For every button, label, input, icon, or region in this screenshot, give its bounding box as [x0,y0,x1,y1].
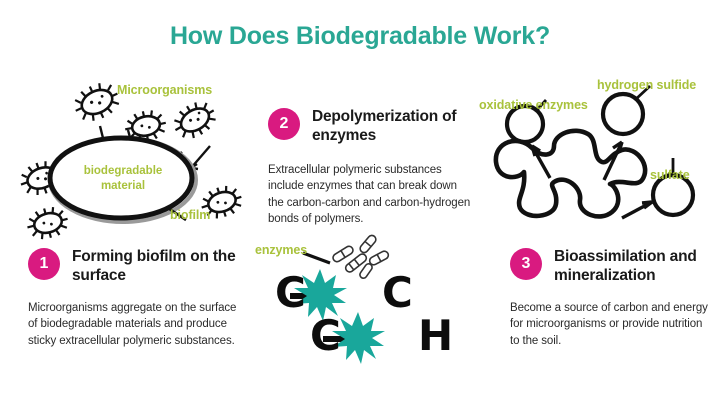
atom-carbon-2: C [382,272,413,314]
step-1-badge: 1 [28,248,60,280]
biofilm-label: biofilm [170,208,210,222]
enzyme-molecules [332,234,390,280]
sulfate-label: sulfate [650,168,690,182]
step-3-title: Bioassimilation and mineralization [554,248,710,286]
hydrogen-sulfide-circle [603,94,643,134]
microorganism-icon [24,203,71,243]
step-2-header: 2 Depolymerization of enzymes [268,108,474,152]
oxidative-enzymes-label: oxidative enzymes [479,98,588,112]
step-2-badge: 2 [268,108,300,140]
step-2-body: Extracellular polymeric substances inclu… [268,162,474,227]
microorganism-icon [168,96,221,145]
step-1-block: 1 Forming biofilm on the surface Microor… [28,248,240,349]
atom-carbon-1: C [275,272,306,314]
enzymes-label: enzymes [255,243,307,257]
infographic-canvas: How Does Biodegradable Work? [0,0,720,404]
step-3-body: Become a source of carbon and energy for… [510,300,710,349]
step-3-block: 3 Bioassimilation and mineralization Bec… [510,248,710,349]
atom-hydrogen: H [418,315,453,357]
microorganism-icon [69,77,124,127]
material-label-line2: material [101,180,145,192]
step-3-header: 3 Bioassimilation and mineralization [510,248,710,292]
atom-carbon-3: C [310,315,341,357]
step-3-badge: 3 [510,248,542,280]
step-1-body: Microorganisms aggregate on the surface … [28,300,240,349]
material-label-line1: biodegradable [84,165,163,177]
step-1-title: Forming biofilm on the surface [72,248,240,286]
hydrogen-sulfide-label: hydrogen sulfide [597,78,696,92]
step-2-block: 2 Depolymerization of enzymes Extracellu… [268,108,474,227]
step-1-header: 1 Forming biofilm on the surface [28,248,240,292]
page-title: How Does Biodegradable Work? [0,22,720,51]
biodegradable-material-label: biodegradable material [62,164,184,193]
microorganisms-label: Microorganisms [117,83,212,97]
step-2-title: Depolymerization of enzymes [312,108,474,146]
